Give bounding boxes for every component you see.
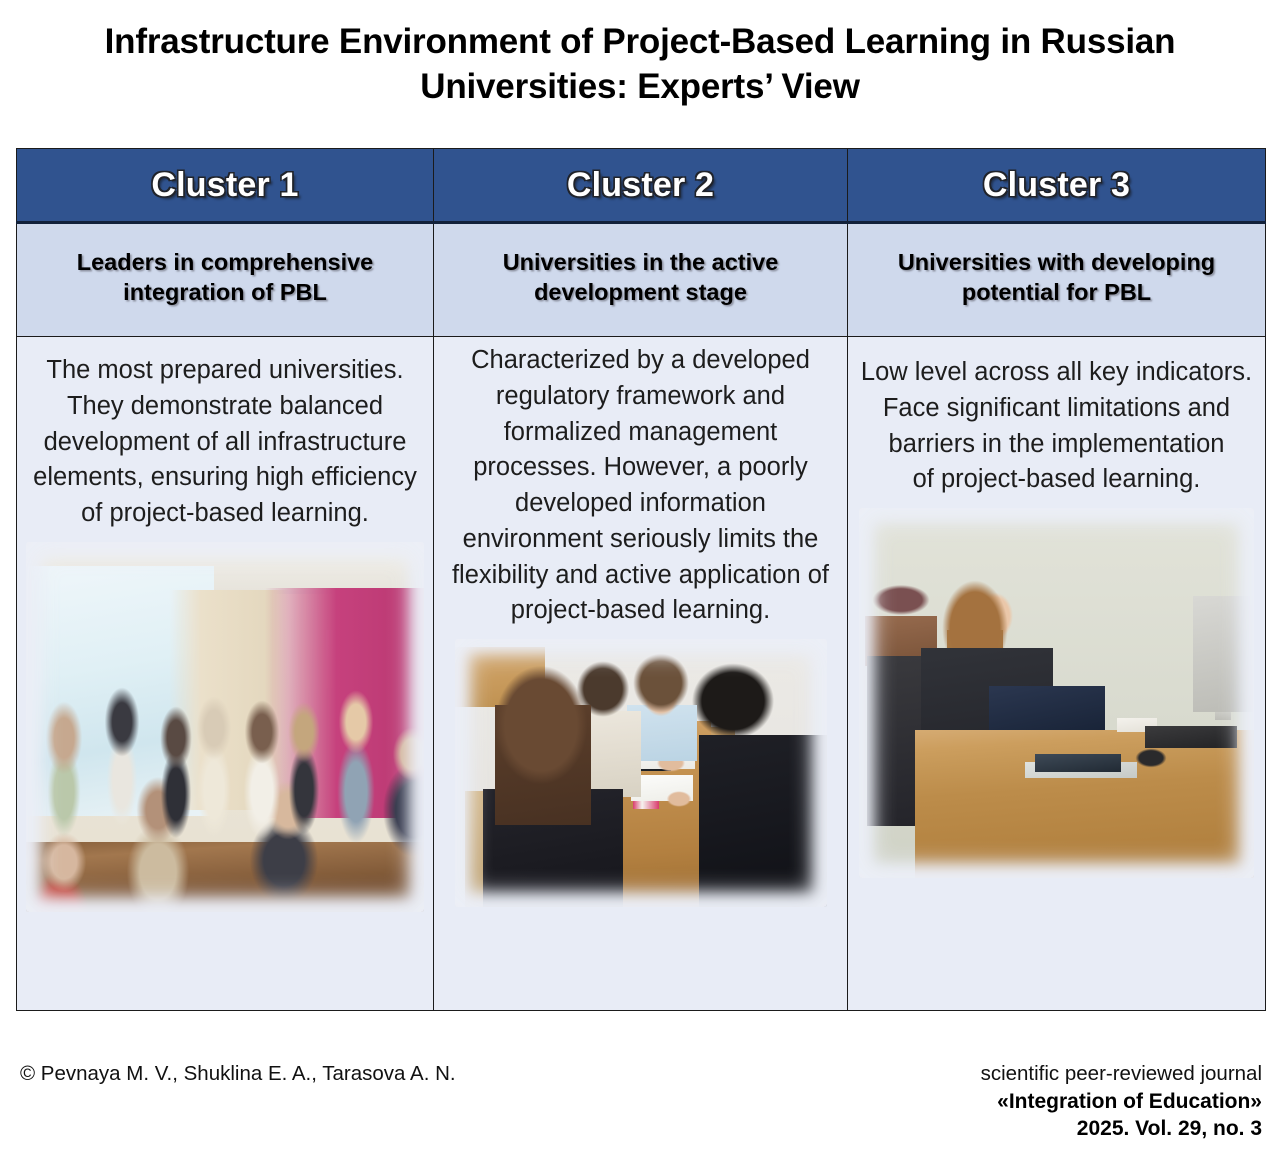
cluster-3-name: Cluster 3	[848, 168, 1265, 202]
cluster-3-body-cell: Low level across all key indicators. Fac…	[848, 337, 1266, 1011]
cluster-1-description: Leaders in comprehensive integration of …	[23, 247, 427, 307]
woman-presenting-at-desk-photo	[859, 508, 1254, 878]
cluster-1-name: Cluster 1	[17, 168, 433, 202]
journal-kind: scientific peer-reviewed journal	[981, 1061, 1262, 1088]
page-title: Infrastructure Environment of Project-Ba…	[0, 20, 1280, 110]
cluster-1-description-cell: Leaders in comprehensive integration of …	[17, 223, 434, 337]
journal-issue: 2025. Vol. 29, no. 3	[981, 1115, 1262, 1142]
cluster-3-description: Universities with developing potential f…	[854, 247, 1259, 307]
cluster-2-body-text: Characterized by a developed regulatory …	[434, 337, 847, 629]
meeting-room-discussion-photo	[26, 542, 424, 912]
cluster-comparison-table: Cluster 1 Cluster 2 Cluster 3 Leaders in…	[16, 148, 1266, 1011]
copyright-notice: © Pevnaya M. V., Shuklina E. A., Tarasov…	[20, 1062, 456, 1086]
cluster-2-description-cell: Universities in the active development s…	[434, 223, 848, 337]
table-subheader-row: Leaders in comprehensive integration of …	[17, 223, 1266, 337]
journal-imprint: scientific peer-reviewed journal «Integr…	[981, 1061, 1262, 1142]
cluster-2-name: Cluster 2	[434, 168, 847, 202]
cluster-3-description-cell: Universities with developing potential f…	[848, 223, 1266, 337]
journal-name: «Integration of Education»	[981, 1088, 1262, 1115]
students-teamwork-desk-photo	[455, 639, 827, 907]
cluster-2-header-cell: Cluster 2	[434, 149, 848, 223]
cluster-1-body-text: The most prepared universities. They dem…	[17, 337, 433, 531]
cluster-3-body-text: Low level across all key indicators. Fac…	[848, 337, 1265, 498]
cluster-1-body-cell: The most prepared universities. They dem…	[17, 337, 434, 1011]
cluster-1-header-cell: Cluster 1	[17, 149, 434, 223]
table-header-row: Cluster 1 Cluster 2 Cluster 3	[17, 149, 1266, 223]
table-body-row: The most prepared universities. They dem…	[17, 337, 1266, 1011]
cluster-2-description: Universities in the active development s…	[440, 247, 841, 307]
cluster-2-body-cell: Characterized by a developed regulatory …	[434, 337, 848, 1011]
cluster-3-header-cell: Cluster 3	[848, 149, 1266, 223]
